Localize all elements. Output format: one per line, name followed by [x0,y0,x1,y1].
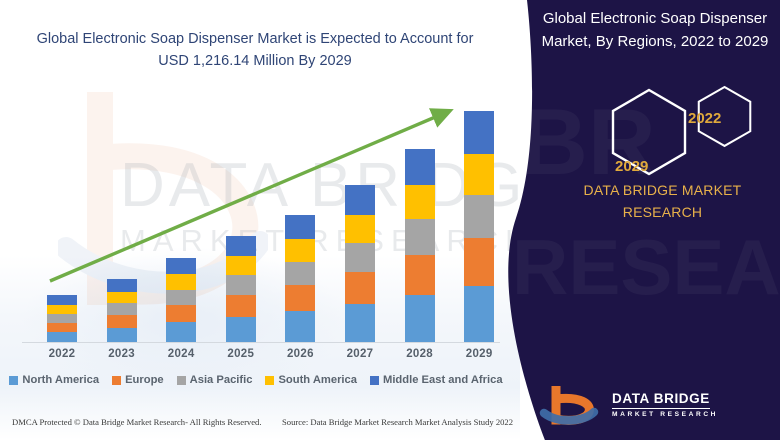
brand-watermark-bottom: RESEARCH [512,222,780,313]
brand-panel-title: Global Electronic Soap Dispenser Market,… [540,8,770,53]
logo-line2: MARKET RESEARCH [612,411,718,418]
hexagon-label-2022: 2022 [688,110,721,127]
brand-name: DATA BRIDGE MARKET RESEARCH [555,180,770,223]
hexagon-group: 2029 2022 [585,82,775,187]
infographic-root: DATA BRIDGE MARKET RESEARCH Global Elect… [0,0,780,440]
brand-panel: BR RESEARCH Global Electronic Soap Dispe… [0,0,780,440]
hexagon-shapes-icon [585,82,775,187]
logo-wordmark: DATA BRIDGE MARKET RESEARCH [612,390,718,418]
hexagon-label-2029: 2029 [615,158,648,175]
logo-line1: DATA BRIDGE [612,391,710,409]
